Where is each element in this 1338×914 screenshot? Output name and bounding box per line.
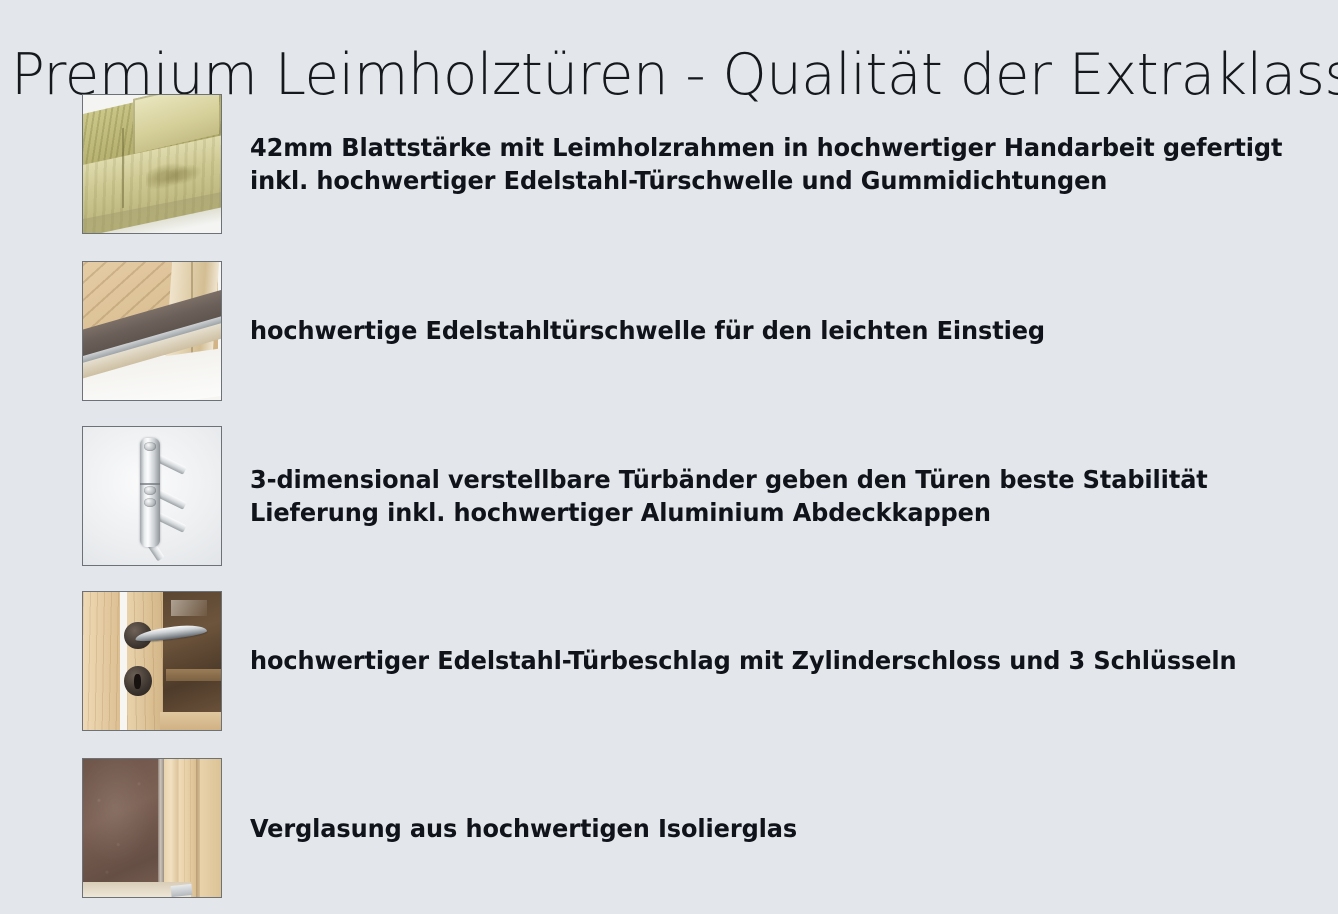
- caption-line: hochwertige Edelstahltürschwelle für den…: [250, 314, 1275, 347]
- caption-line: 3-dimensional verstellbare Türbänder geb…: [250, 463, 1275, 496]
- caption-line: Lieferung inkl. hochwertiger Aluminium A…: [250, 496, 1275, 529]
- feature-caption: Verglasung aus hochwertigen Isolierglas: [250, 812, 1294, 845]
- feature-row: hochwertige Edelstahltürschwelle für den…: [0, 248, 1338, 413]
- stainless-steel-door-handle-image: [83, 592, 221, 730]
- caption-line: inkl. hochwertiger Edelstahl-Türschwelle…: [250, 164, 1282, 197]
- feature-caption: hochwertiger Edelstahl-Türbeschlag mit Z…: [250, 644, 1294, 677]
- adjustable-door-hinge-image: [83, 427, 221, 565]
- stainless-steel-threshold-image: [83, 262, 221, 400]
- caption-line: Verglasung aus hochwertigen Isolierglas: [250, 812, 1275, 845]
- feature-row: 3-dimensional verstellbare Türbänder geb…: [0, 413, 1338, 578]
- feature-thumbnail-glulam-beam-cross-section: [82, 94, 222, 234]
- feature-caption: hochwertige Edelstahltürschwelle für den…: [250, 314, 1294, 347]
- glulam-beam-cross-section-image: [83, 95, 221, 233]
- feature-row: 42mm Blattstärke mit Leimholzrahmen in h…: [0, 80, 1338, 248]
- feature-thumbnail-stainless-steel-threshold: [82, 261, 222, 401]
- caption-line: 42mm Blattstärke mit Leimholzrahmen in h…: [250, 131, 1282, 164]
- insulating-glass-pane-image: [83, 759, 221, 897]
- feature-row: Verglasung aus hochwertigen Isolierglas: [0, 743, 1338, 913]
- feature-thumbnail-insulating-glass-pane: [82, 758, 222, 898]
- feature-row: hochwertiger Edelstahl-Türbeschlag mit Z…: [0, 578, 1338, 743]
- feature-thumbnail-adjustable-door-hinge: [82, 426, 222, 566]
- feature-thumbnail-stainless-steel-door-handle: [82, 591, 222, 731]
- feature-caption: 42mm Blattstärke mit Leimholzrahmen in h…: [250, 131, 1302, 197]
- feature-caption: 3-dimensional verstellbare Türbänder geb…: [250, 463, 1294, 529]
- feature-list: 42mm Blattstärke mit Leimholzrahmen in h…: [0, 80, 1338, 913]
- caption-line: hochwertiger Edelstahl-Türbeschlag mit Z…: [250, 644, 1275, 677]
